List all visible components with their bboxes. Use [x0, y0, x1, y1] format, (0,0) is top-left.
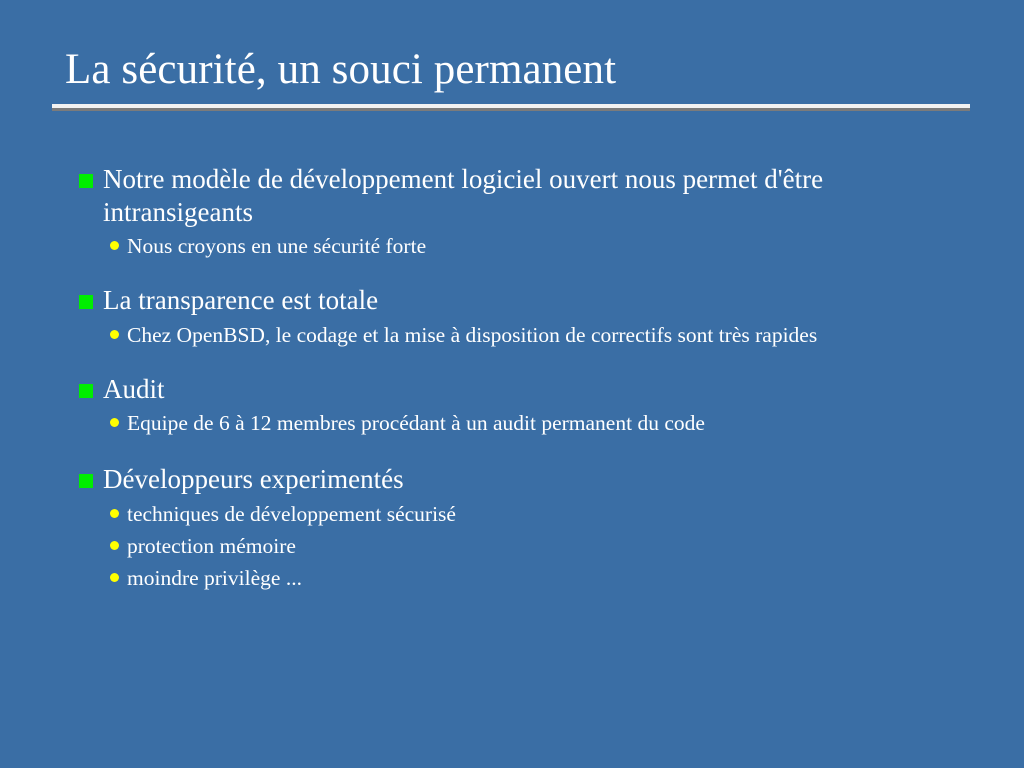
yellow-dot-bullet-icon	[110, 418, 119, 427]
bullet-group: La transparence est totale Chez OpenBSD,…	[79, 284, 979, 351]
bullet-group: Développeurs experimentés techniques de …	[79, 463, 979, 594]
bullet-level2: techniques de développement sécurisé	[79, 498, 979, 530]
sub-bullet-list: Equipe de 6 à 12 membres procédant à un …	[79, 407, 979, 439]
bullet-level1-label: Développeurs experimentés	[103, 463, 979, 496]
bullet-group: Notre modèle de développement logiciel o…	[79, 163, 979, 262]
title-divider	[52, 104, 970, 111]
bullet-level1-label: Notre modèle de développement logiciel o…	[103, 163, 979, 228]
bullet-level2: Chez OpenBSD, le codage et la mise à dis…	[79, 319, 979, 351]
slide-body: Notre modèle de développement logiciel o…	[79, 163, 979, 594]
green-square-bullet-icon	[79, 174, 93, 188]
yellow-dot-bullet-icon	[110, 573, 119, 582]
yellow-dot-bullet-icon	[110, 241, 119, 250]
bullet-level2-label: protection mémoire	[127, 530, 979, 562]
bullet-level2-label: moindre privilège ...	[127, 562, 979, 594]
bullet-level1: Développeurs experimentés	[79, 463, 979, 496]
yellow-dot-bullet-icon	[110, 541, 119, 550]
bullet-level2-label: Chez OpenBSD, le codage et la mise à dis…	[127, 319, 979, 351]
yellow-dot-bullet-icon	[110, 509, 119, 518]
bullet-level1-label: La transparence est totale	[103, 284, 979, 317]
sub-bullet-list: techniques de développement sécurisé pro…	[79, 498, 979, 594]
bullet-level1: La transparence est totale	[79, 284, 979, 317]
bullet-level2: Nous croyons en une sécurité forte	[79, 230, 979, 262]
bullet-level2: moindre privilège ...	[79, 562, 979, 594]
page-title: La sécurité, un souci permanent	[52, 44, 970, 96]
sub-bullet-list: Nous croyons en une sécurité forte	[79, 230, 979, 262]
green-square-bullet-icon	[79, 384, 93, 398]
green-square-bullet-icon	[79, 295, 93, 309]
bullet-group: Audit Equipe de 6 à 12 membres procédant…	[79, 373, 979, 440]
yellow-dot-bullet-icon	[110, 330, 119, 339]
bullet-level2: protection mémoire	[79, 530, 979, 562]
sub-bullet-list: Chez OpenBSD, le codage et la mise à dis…	[79, 319, 979, 351]
bullet-level2-label: techniques de développement sécurisé	[127, 498, 979, 530]
bullet-level1: Audit	[79, 373, 979, 406]
slide-canvas: La sécurité, un souci permanent Notre mo…	[0, 0, 1024, 768]
bullet-level1: Notre modèle de développement logiciel o…	[79, 163, 979, 228]
bullet-level2-label: Equipe de 6 à 12 membres procédant à un …	[127, 407, 979, 439]
green-square-bullet-icon	[79, 474, 93, 488]
bullet-level1-label: Audit	[103, 373, 979, 406]
bullet-level2-label: Nous croyons en une sécurité forte	[127, 230, 979, 262]
slide-title-block: La sécurité, un souci permanent	[52, 44, 970, 111]
bullet-level2: Equipe de 6 à 12 membres procédant à un …	[79, 407, 979, 439]
